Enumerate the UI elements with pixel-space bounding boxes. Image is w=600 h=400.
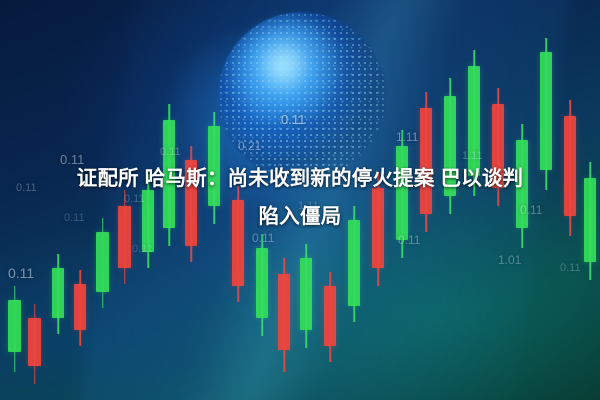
price-label: 0.11 [132,243,153,255]
candlestick-body [74,284,86,330]
candlestick-body [52,268,64,318]
candlestick-body [300,258,312,330]
headline-line-2: 陷入僵局 [8,198,592,236]
price-label: 0.21 [238,139,261,153]
candlestick-body [8,300,21,352]
price-label: 1.01 [498,253,521,267]
headline-line-1: 证配所 哈马斯：尚未收到新的停火提案 巴以谈判 [8,160,592,198]
candlestick-body [540,52,552,170]
candlestick-body [256,248,268,318]
price-label: 0.11 [160,146,181,158]
price-label: 0.11 [281,112,305,127]
candlestick-body [28,318,41,366]
headline: 证配所 哈马斯：尚未收到新的停火提案 巴以谈判 陷入僵局 [0,160,600,236]
price-label: 0.11 [8,265,34,281]
price-label: 1.11 [396,130,418,144]
candlestick-body [324,286,336,346]
news-image: 0.110.211.110.110.111.110.110.111.110.11… [0,0,600,400]
candlestick-body [96,232,109,292]
price-label: 0.11 [560,262,581,274]
candlestick-body [278,274,290,350]
